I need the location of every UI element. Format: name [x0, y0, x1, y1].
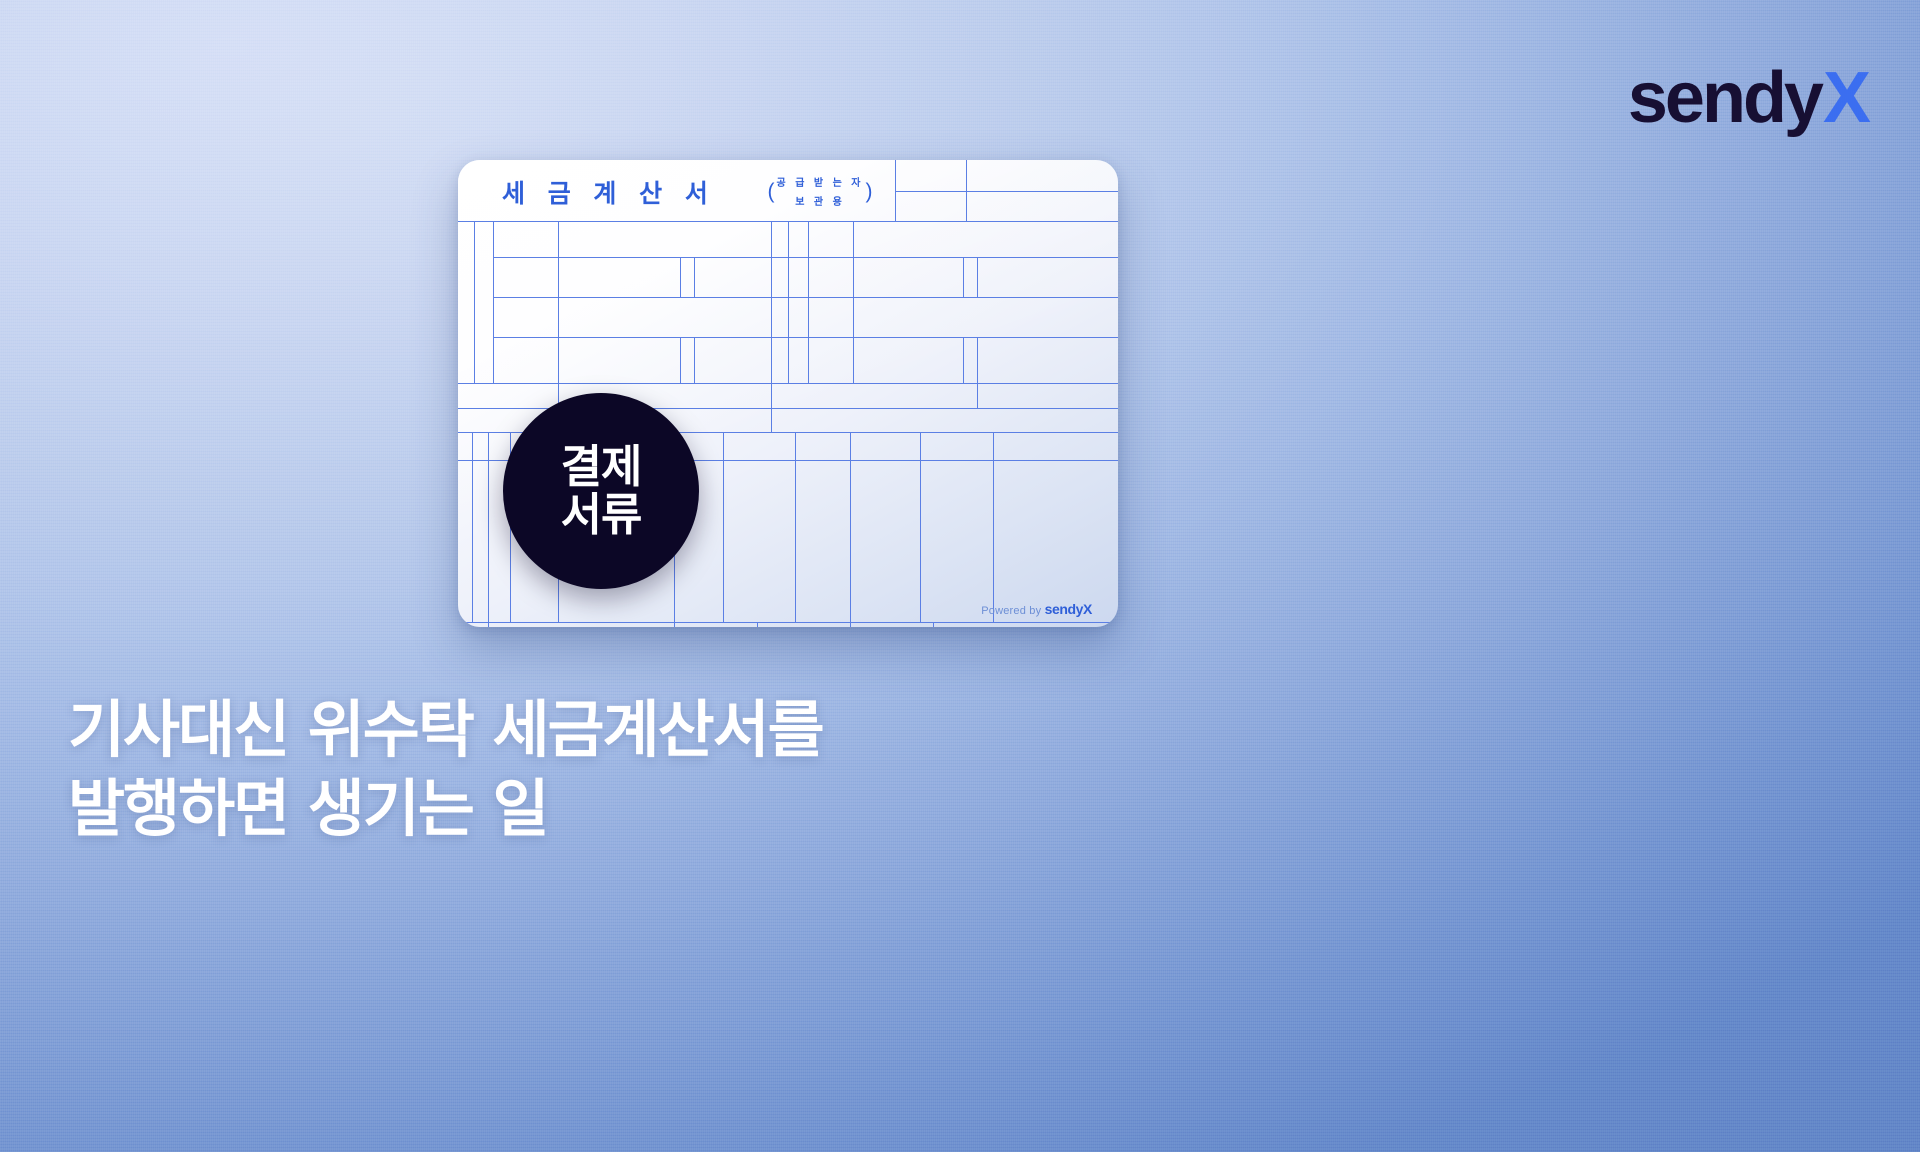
grid-line-v	[558, 222, 559, 384]
grid-line-v	[993, 432, 994, 622]
grid-line-v-center-right	[788, 222, 789, 384]
invoice-title-row: 세 금 계 산 서 ( 공 급 받 는 자 보 관 용 )	[458, 160, 1118, 222]
powered-prefix: Powered by	[981, 605, 1044, 617]
logo-word: sendy	[1628, 58, 1821, 138]
grid-line-v	[474, 222, 475, 384]
badge-line-1: 결제	[561, 443, 642, 491]
copy-label-line-1: 공 급 받 는 자	[777, 174, 864, 189]
invoice-title: 세 금 계 산 서	[502, 174, 715, 210]
badge-line-2: 서류	[561, 491, 642, 539]
payment-document-badge: 결제 서류	[503, 393, 699, 589]
logo-x-mark: X	[1823, 58, 1868, 138]
grid-line-h	[493, 337, 1118, 338]
grid-line-v	[757, 622, 758, 627]
grid-line-h	[458, 383, 1118, 384]
grid-line-v	[680, 337, 681, 384]
invoice-copy-label: ( 공 급 받 는 자 보 관 용 )	[756, 168, 884, 214]
grid-line-v	[853, 222, 854, 384]
grid-line-v	[795, 432, 796, 622]
grid-line-v	[977, 383, 978, 408]
grid-line-v	[488, 622, 489, 627]
grid-line-v	[694, 257, 695, 297]
grid-line-v	[977, 257, 978, 297]
grid-line-v	[680, 257, 681, 297]
headline: 기사대신 위수탁 세금계산서를 발행하면 생기는 일	[68, 690, 1368, 849]
grid-line-v	[674, 622, 675, 627]
headline-line-1: 기사대신 위수탁 세금계산서를	[68, 690, 1368, 769]
grid-line-v	[963, 257, 964, 297]
paren-close: )	[865, 181, 872, 202]
copy-label-line-2: 보 관 용	[795, 193, 845, 208]
grid-line-v	[771, 408, 772, 432]
grid-line-v	[488, 432, 489, 622]
grid-line-v	[963, 337, 964, 384]
headline-line-2: 발행하면 생기는 일	[68, 769, 1368, 848]
grid-line-v	[771, 383, 772, 408]
powered-by-sendyx: Powered by sendyX	[981, 601, 1092, 617]
sendyx-logo: sendyX	[1628, 62, 1868, 134]
powered-x-mark: X	[1083, 601, 1092, 617]
grid-line-v	[472, 432, 473, 622]
grid-line-h	[493, 257, 1118, 258]
powered-word: sendy	[1045, 601, 1083, 617]
grid-line-v	[694, 337, 695, 384]
grid-line-v	[493, 222, 494, 384]
grid-line-v-center-left	[771, 222, 772, 384]
grid-line-h	[458, 622, 1118, 623]
grid-line-v	[850, 622, 851, 627]
paren-open: (	[768, 181, 775, 202]
grid-line-v	[977, 337, 978, 384]
grid-line-v	[850, 432, 851, 622]
grid-line-h	[493, 297, 1118, 298]
grid-line-v	[920, 432, 921, 622]
grid-line-h	[895, 191, 1118, 192]
grid-line-v	[933, 622, 934, 627]
grid-line-v	[723, 432, 724, 622]
grid-line-v	[808, 222, 809, 384]
